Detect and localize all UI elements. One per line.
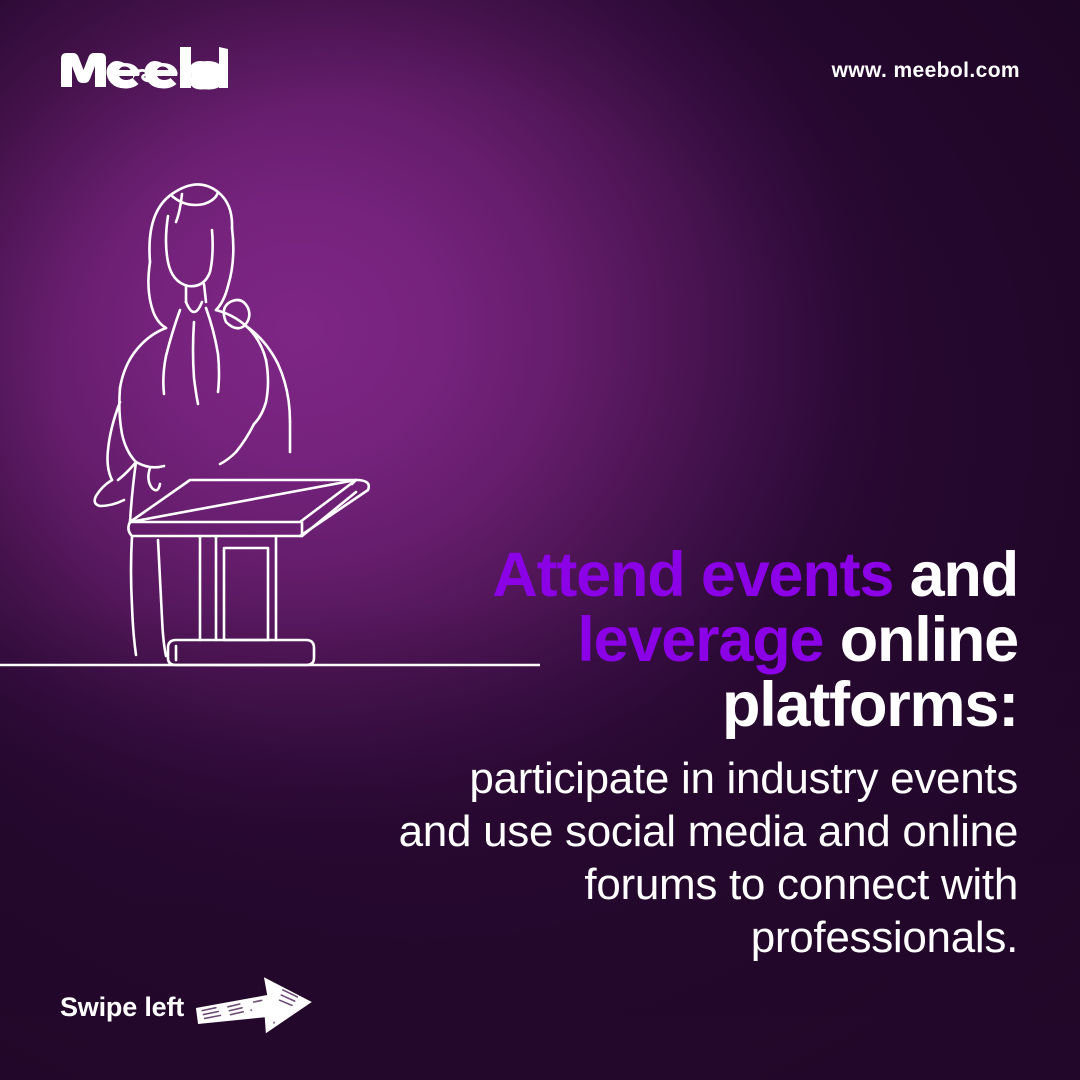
headline-space-2 [823, 605, 839, 675]
headline-white-1: and [910, 540, 1018, 610]
website-url[interactable]: www. meebol.com [832, 59, 1020, 83]
headline-white-2: online [840, 605, 1018, 675]
swipe-left-cue[interactable]: Swipe left [60, 976, 314, 1038]
headline-space-1 [893, 540, 909, 610]
swipe-left-label: Swipe left [60, 992, 184, 1023]
message-text-block: Attend events and leverage online platfo… [398, 543, 1018, 965]
headline-accent-2: leverage [577, 605, 823, 675]
headline-white-3: platforms: [722, 670, 1018, 740]
arrow-right-icon [194, 976, 314, 1038]
page-title: Attend events and leverage online platfo… [398, 543, 1018, 738]
body-paragraph: participate in industry events and use s… [398, 752, 1018, 965]
social-media-post-card: www. meebol.com [0, 0, 1080, 1080]
headline-accent-1: Attend events [492, 540, 893, 610]
meebol-logo[interactable] [58, 44, 228, 94]
